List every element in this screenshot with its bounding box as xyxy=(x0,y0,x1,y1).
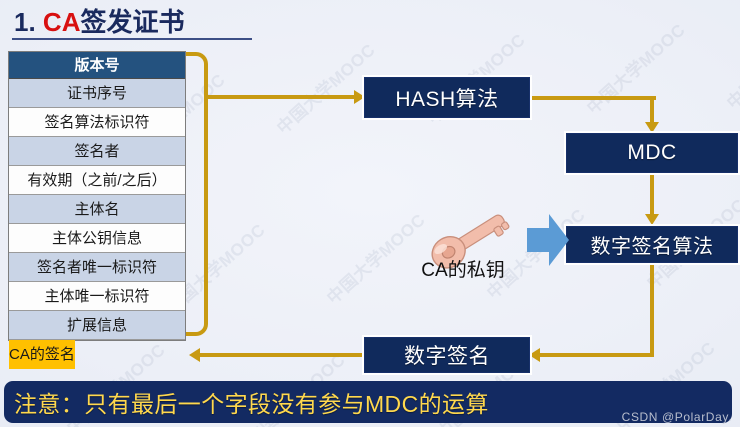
table-row: 签名算法标识符 xyxy=(9,108,185,137)
key-label: CA的私钥 xyxy=(398,255,528,282)
box-mdc: MDC xyxy=(566,133,738,173)
table-row: 扩展信息 xyxy=(9,311,185,340)
connector-elbow xyxy=(186,52,208,72)
connector-mdc-to-dsa xyxy=(650,172,654,215)
box-digital-signature-algorithm: 数字签名算法 xyxy=(566,226,738,263)
arrow-head-left xyxy=(189,348,200,362)
table-row: 主体公钥信息 xyxy=(9,224,185,253)
box-hash-algorithm: HASH算法 xyxy=(364,77,530,118)
arrow-head-down xyxy=(645,214,659,225)
table-row: 有效期（之前/之后） xyxy=(9,166,185,195)
connector-trunk xyxy=(204,70,208,310)
table-row: 版本号 xyxy=(9,52,185,79)
connector-hash-to-mdc xyxy=(528,96,656,100)
title-suffix: 签发证书 xyxy=(80,7,184,37)
table-row: 签名者唯一标识符 xyxy=(9,253,185,282)
note-banner-text: 注意：只有最后一个字段没有参与MDC的运算 xyxy=(4,385,489,419)
table-row-ca-signature: CA的签名 xyxy=(9,340,75,369)
blue-block-arrow-icon xyxy=(527,212,569,273)
table-row: 签名者 xyxy=(9,137,185,166)
connector-signature-to-ca xyxy=(200,353,364,357)
table-row: 主体唯一标识符 xyxy=(9,282,185,311)
connector-dsa-to-signature xyxy=(540,353,654,357)
credit-watermark: CSDN @PolarDay. xyxy=(622,410,732,424)
connector-hash-to-mdc xyxy=(650,96,654,123)
title-prefix: 1. xyxy=(14,7,43,37)
connector-to-hash xyxy=(204,95,356,99)
table-row: 证书序号 xyxy=(9,79,185,108)
box-digital-signature: 数字签名 xyxy=(364,337,530,373)
certificate-field-table: 版本号 证书序号 签名算法标识符 签名者 有效期（之前/之后） 主体名 主体公钥… xyxy=(8,51,186,341)
watermark: 中国大学MOOC xyxy=(580,16,690,118)
connector-dsa-to-signature xyxy=(650,262,654,353)
table-row: 主体名 xyxy=(9,195,185,224)
slide-canvas: 中国大学MOOC 中国大学MOOC 中国大学MOOC 中国大学MOOC 中国大学… xyxy=(0,0,740,427)
connector-elbow xyxy=(186,308,208,336)
title-accent: CA xyxy=(43,7,81,37)
watermark: 中国大学MOOC xyxy=(720,11,740,113)
title-divider xyxy=(12,38,252,40)
page-title: 1. CA签发证书 xyxy=(14,2,185,39)
arrow-head-left xyxy=(529,348,540,362)
arrow-head-down xyxy=(645,122,659,133)
